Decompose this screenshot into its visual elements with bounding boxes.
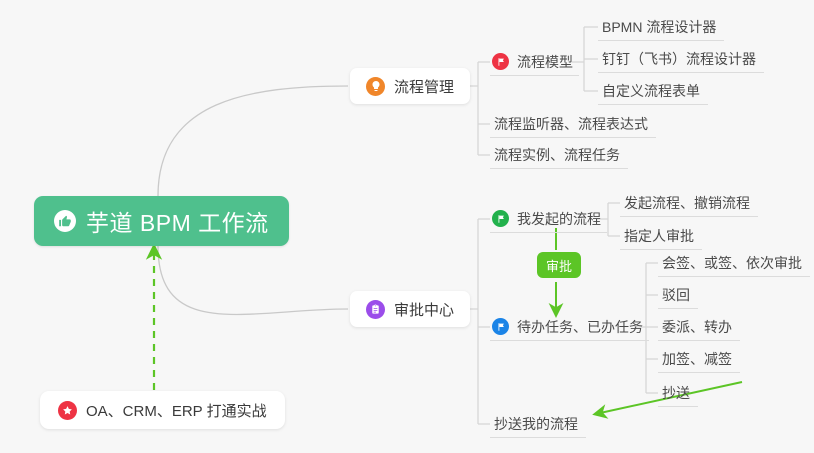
branch-label: 审批中心: [394, 299, 454, 320]
branch-label: 流程管理: [394, 76, 454, 97]
clipboard-icon: [366, 300, 385, 319]
thumbs-up-icon: [54, 210, 76, 232]
leaf-process-listener-expression[interactable]: 流程监听器、流程表达式: [490, 111, 656, 138]
annotation-approval-chip: 审批: [537, 252, 581, 278]
flag-green-icon: [492, 210, 509, 227]
leaf-carbon-copy[interactable]: 抄送: [658, 380, 698, 407]
node-my-started-processes[interactable]: 我发起的流程: [490, 205, 607, 233]
leaf-bpmn-designer[interactable]: BPMN 流程设计器: [598, 14, 724, 41]
leaf-add-remove-sign[interactable]: 加签、减签: [658, 346, 740, 373]
leaf-process-instance-task[interactable]: 流程实例、流程任务: [490, 142, 628, 169]
node-process-model[interactable]: 流程模型: [490, 48, 579, 76]
leaf-assignee-approval[interactable]: 指定人审批: [620, 223, 702, 250]
leaf-countersign-or-sequential[interactable]: 会签、或签、依次审批: [658, 250, 810, 277]
floating-note-label: OA、CRM、ERP 打通实战: [86, 400, 267, 421]
lightbulb-icon: [366, 77, 385, 96]
leaf-delegate-transfer[interactable]: 委派、转办: [658, 314, 740, 341]
node-label: 待办任务、已办任务: [517, 317, 643, 337]
leaf-dingtalk-feishu-designer[interactable]: 钉钉（飞书）流程设计器: [598, 46, 764, 73]
mindmap-canvas: 芋道 BPM 工作流 流程管理 流程模型 BPMN 流程设计器 钉钉（飞书）流程…: [0, 0, 814, 453]
chip-label: 审批: [546, 256, 572, 275]
branch-process-management[interactable]: 流程管理: [350, 68, 470, 104]
branch-approval-center[interactable]: 审批中心: [350, 291, 470, 327]
root-node[interactable]: 芋道 BPM 工作流: [34, 196, 289, 246]
node-todo-done-tasks[interactable]: 待办任务、已办任务: [490, 313, 649, 341]
leaf-start-cancel-process[interactable]: 发起流程、撤销流程: [620, 190, 758, 217]
flag-blue-icon: [492, 318, 509, 335]
node-label: 我发起的流程: [517, 209, 601, 229]
leaf-cc-to-me-processes[interactable]: 抄送我的流程: [490, 411, 586, 438]
node-label: 流程模型: [517, 52, 573, 72]
flag-red-icon: [492, 53, 509, 70]
root-label: 芋道 BPM 工作流: [86, 204, 269, 238]
leaf-custom-process-form[interactable]: 自定义流程表单: [598, 78, 708, 105]
leaf-reject[interactable]: 驳回: [658, 282, 698, 309]
star-icon: [58, 401, 77, 420]
floating-note-integration[interactable]: OA、CRM、ERP 打通实战: [40, 391, 285, 429]
